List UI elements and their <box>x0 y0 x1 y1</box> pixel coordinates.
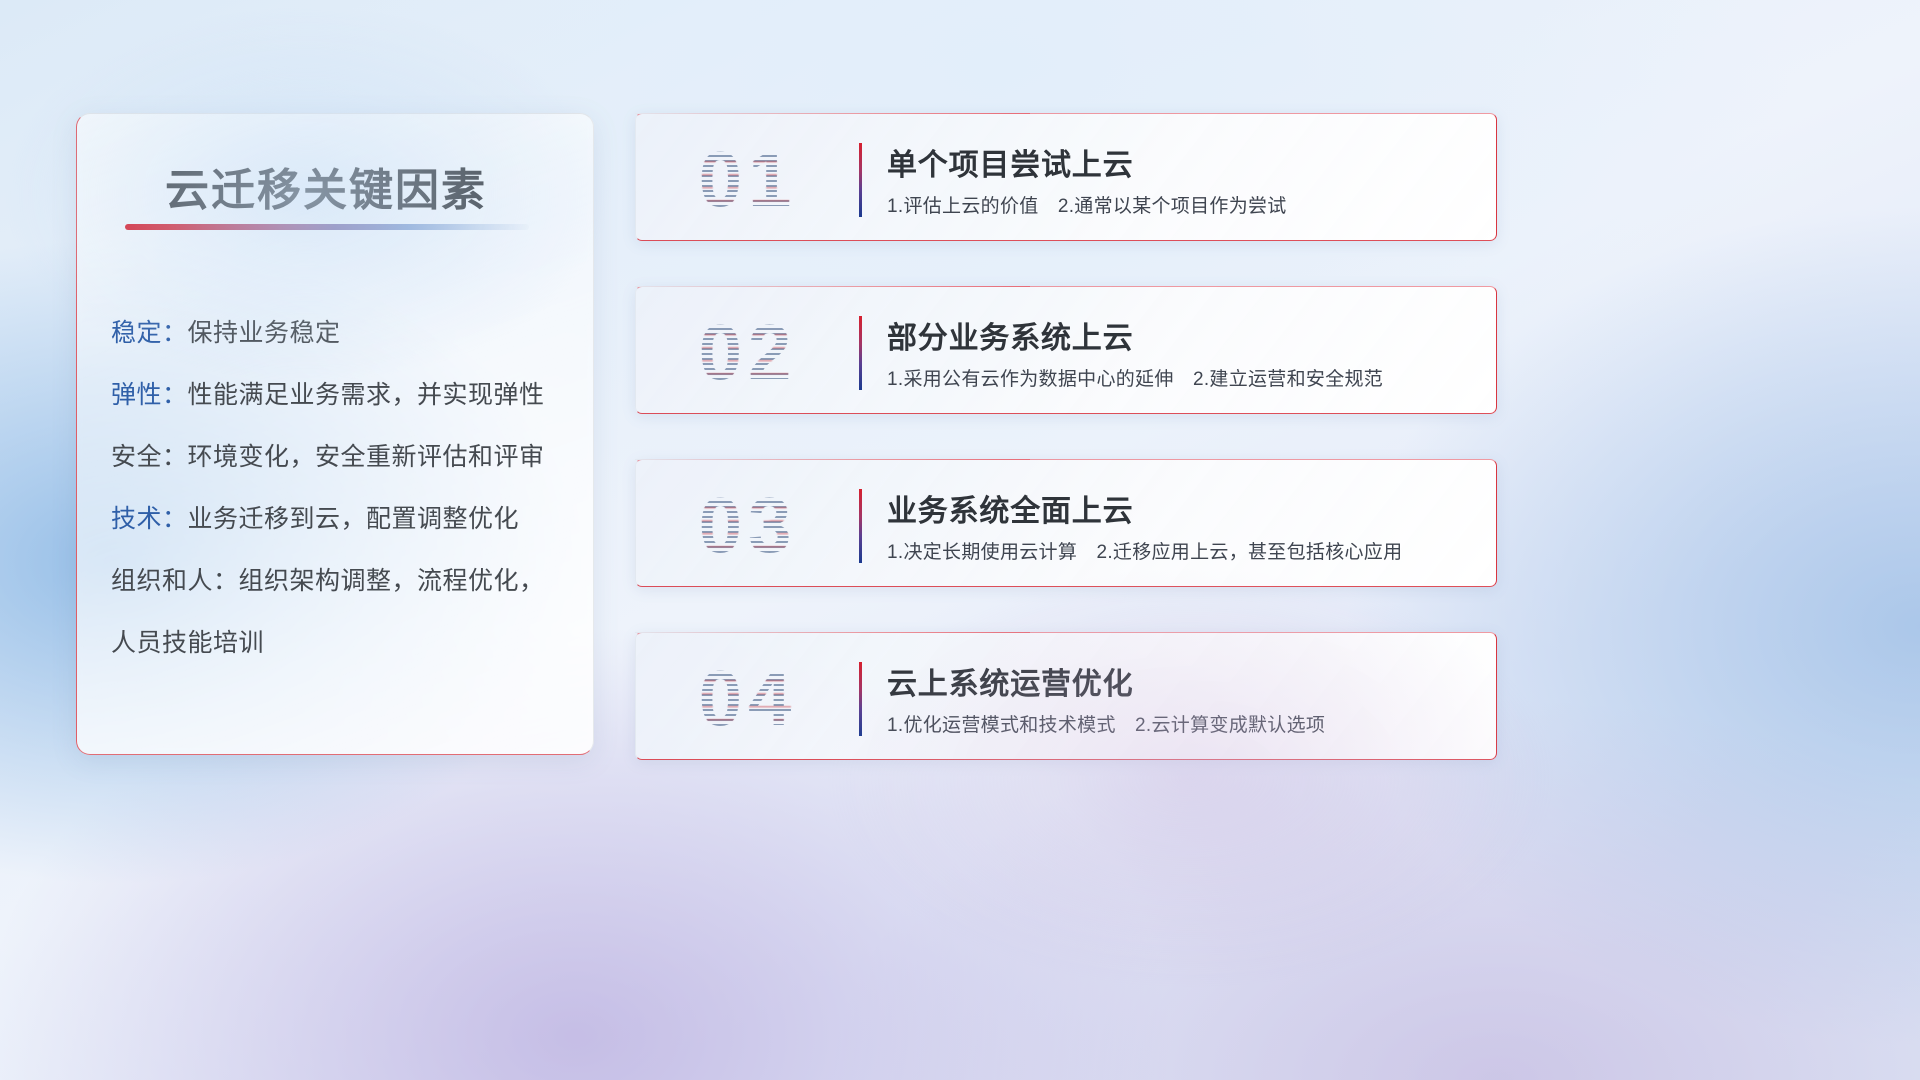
stage-description: 1.决定长期使用云计算 2.迁移应用上云，甚至包括核心应用 <box>887 537 1402 564</box>
stage-number-watermark: 04 <box>663 654 833 742</box>
card-divider-bar <box>859 489 862 563</box>
list-item-text: 组织架构调整，流程优化， <box>239 567 545 595</box>
list-item-text: 性能满足业务需求，并实现弹性 <box>188 381 545 409</box>
list-item: 组织和人：组织架构调整，流程优化， <box>111 550 571 612</box>
list-item: 人员技能培训 <box>111 612 571 674</box>
list-item-key: 弹性： <box>111 381 188 409</box>
list-item: 安全：环境变化，安全重新评估和评审 <box>111 426 571 488</box>
stage-card[interactable]: 03 03 业务系统全面上云 1.决定长期使用云计算 2.迁移应用上云，甚至包括… <box>635 459 1497 587</box>
stage-title: 业务系统全面上云 <box>887 486 1133 530</box>
slide-canvas: 云迁移关键因素 稳定：保持业务稳定 弹性：性能满足业务需求，并实现弹性 安全：环… <box>0 0 1920 1080</box>
list-item-text: 业务迁移到云，配置调整优化 <box>188 505 520 533</box>
list-item: 稳定：保持业务稳定 <box>111 302 571 364</box>
stage-description: 1.评估上云的价值 2.通常以某个项目作为尝试 <box>887 191 1287 218</box>
stage-number-watermark: 02 <box>663 308 833 396</box>
key-factors-list: 稳定：保持业务稳定 弹性：性能满足业务需求，并实现弹性 安全：环境变化，安全重新… <box>111 302 571 674</box>
list-item-key: 组织和人： <box>111 567 239 595</box>
card-divider-bar <box>859 316 862 390</box>
card-divider-bar <box>859 143 862 217</box>
list-item: 技术：业务迁移到云，配置调整优化 <box>111 488 571 550</box>
list-item-text: 环境变化，安全重新评估和评审 <box>188 443 545 471</box>
stage-title: 部分业务系统上云 <box>887 313 1133 357</box>
stage-title: 单个项目尝试上云 <box>887 140 1133 184</box>
list-item-text: 保持业务稳定 <box>188 319 341 347</box>
list-item-key: 安全： <box>111 443 188 471</box>
title-underline-gradient <box>125 224 529 230</box>
stage-description: 1.采用公有云作为数据中心的延伸 2.建立运营和安全规范 <box>887 364 1383 391</box>
card-divider-bar <box>859 662 862 736</box>
list-item-text: 人员技能培训 <box>111 629 264 657</box>
stage-number-watermark: 03 <box>663 481 833 569</box>
migration-stage-cards: 01 01 单个项目尝试上云 1.评估上云的价值 2.通常以某个项目作为尝试 0… <box>635 113 1497 805</box>
stage-title: 云上系统运营优化 <box>887 659 1133 703</box>
stage-card[interactable]: 02 02 部分业务系统上云 1.采用公有云作为数据中心的延伸 2.建立运营和安… <box>635 286 1497 414</box>
stage-number-watermark: 01 <box>663 135 833 223</box>
stage-card[interactable]: 01 01 单个项目尝试上云 1.评估上云的价值 2.通常以某个项目作为尝试 <box>635 113 1497 241</box>
list-item: 弹性：性能满足业务需求，并实现弹性 <box>111 364 571 426</box>
key-factors-panel: 云迁移关键因素 稳定：保持业务稳定 弹性：性能满足业务需求，并实现弹性 安全：环… <box>76 113 594 755</box>
page-title: 云迁移关键因素 <box>165 154 487 218</box>
list-item-key: 稳定： <box>111 319 188 347</box>
stage-card[interactable]: 04 04 云上系统运营优化 1.优化运营模式和技术模式 2.云计算变成默认选项 <box>635 632 1497 760</box>
list-item-key: 技术： <box>111 505 188 533</box>
stage-description: 1.优化运营模式和技术模式 2.云计算变成默认选项 <box>887 710 1325 737</box>
